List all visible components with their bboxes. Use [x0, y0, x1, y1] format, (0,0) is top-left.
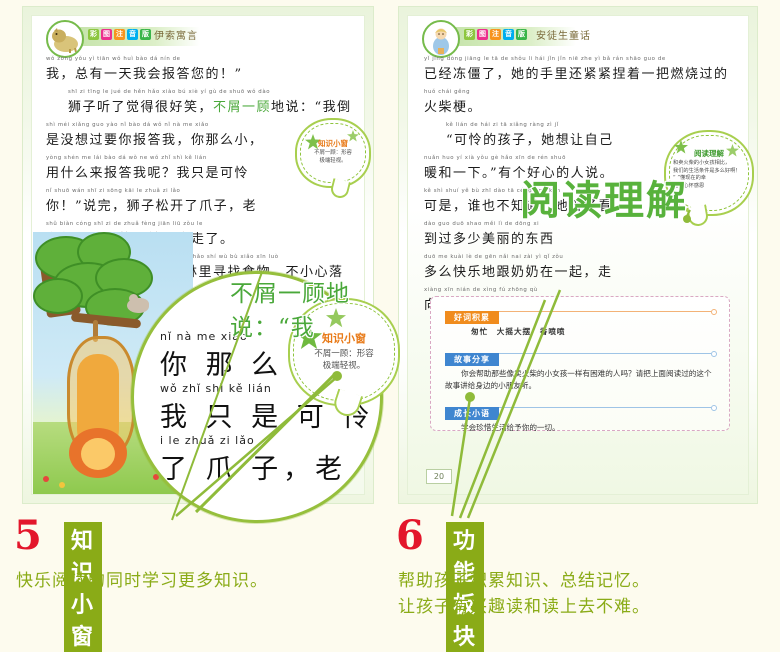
hanzi-row: 已经冻僵了，她的手里还紧紧捏着一把燃烧过的 [424, 63, 729, 82]
pinyin-row: shǔ biàn cóng shī zi de zhuǎ fèng jiān l… [46, 221, 203, 227]
callout-small-body: 不屑一顾：形容 极端轻视。 [297, 150, 369, 166]
hanzi-row: 到过多少美丽的东西 [424, 228, 555, 247]
hanzi-row: 我，总有一天我会报答您的！” [46, 63, 243, 82]
badge-0: 彩 [88, 29, 99, 40]
lion-icon [46, 20, 84, 58]
text-line: duō me kuài lè de gēn nǎi nai zài yì qǐ … [424, 254, 749, 282]
section-tag: 故事分享 [445, 353, 499, 366]
section-body: 匆忙 大摇大摆 香喷喷 [445, 326, 717, 338]
section-tag: 成长小语 [445, 407, 499, 420]
left-overlay-phrase: 不屑一顾地说：“我 [230, 274, 364, 342]
callout-small-title: 知识小窗 [297, 138, 369, 149]
badge-1: 图 [477, 29, 488, 40]
caption-line-6-1: 让孩子有兴趣读和读上去不难。 [398, 592, 650, 617]
caption-line-5-0: 快乐阅读的同时学习更多知识。 [16, 566, 268, 591]
section-rule [499, 311, 711, 312]
magnified-hanzi: 了 爪 子，老 [160, 447, 347, 486]
section-body: 学会珍惜生活给予你的一切。 [445, 422, 717, 434]
badge-2: 注 [114, 29, 125, 40]
magnified-pinyin: le [160, 486, 172, 499]
book-spread: 彩 图 注 音 版 伊索寓言 wǒ zǒng yǒu yì tiān wǒ hu… [0, 0, 780, 512]
hanzi-row: 是没想过要你报答我，你那么小， [46, 129, 264, 148]
section-dot [711, 309, 717, 315]
hanzi-row: 火柴梗。 [424, 96, 482, 115]
badge-4: 版 [516, 29, 527, 40]
pinyin-row: yǐ jīng dòng jiāng le tā de shǒu li hái … [424, 56, 666, 62]
exercise-panel: 好词积累匆忙 大摇大摆 香喷喷故事分享你会帮助那些像卖火柴的小女孩一样有困难的人… [430, 296, 730, 431]
pinyin-row: nǐ shuō wán shī zi sōng kāi le zhuǎ zi l… [46, 188, 180, 194]
text-line: wǒ zǒng yǒu yì tiān wǒ huì bào dá nín de… [46, 56, 365, 84]
badge-3: 音 [503, 29, 514, 40]
right-page-title: 安徒生童话 [536, 27, 591, 42]
hanzi-row: 用什么来报答我呢？我只是可怜 [46, 162, 249, 181]
caption-number-5: 5 [14, 516, 42, 556]
callout-read-title: 阅读理解 [666, 148, 752, 159]
caption-number-6: 6 [396, 516, 424, 556]
right-page-header: 彩 图 注 音 版 安徒生童话 [408, 24, 748, 50]
hanzi-row: “可怜的孩子，她想让自己 [446, 129, 614, 148]
pinyin-row: xiàng xīn nián de xìng fú zhōng qù [424, 287, 538, 293]
pinyin-row: shī zi tīng le jué de hěn hǎo xiào bú xi… [68, 89, 270, 95]
pinyin-row: huǒ chái gěng [424, 89, 470, 95]
magnified-pinyin: wǒ zhǐ shì kě lián [160, 382, 272, 395]
hanzi-row: 狮子听了觉得很好笑，不屑一顾地说：“我倒 [68, 96, 352, 115]
pinyin-row: wǒ zǒng yǒu yì tiān wǒ huì bào dá nín de [46, 56, 181, 62]
panel-section-2: 成长小语学会珍惜生活给予你的一切。 [445, 401, 717, 434]
left-header-badges: 彩 图 注 音 版 [88, 29, 151, 40]
magnified-hanzi: 了 [160, 499, 192, 523]
caption-line-6-0: 帮助孩子积累知识、总结记忆。 [398, 566, 650, 591]
text-line: shī zi tīng le jué de hěn hǎo xiào bú xi… [46, 89, 365, 117]
text-line: huǒ chái gěng火柴梗。 [424, 89, 749, 117]
badge-3: 音 [127, 29, 138, 40]
hanzi-row: 多么快乐地跟奶奶在一起，走 [424, 261, 613, 280]
left-page-header: 彩 图 注 音 版 伊索寓言 [32, 24, 364, 50]
hanzi-row: 你！”说完，狮子松开了爪子，老 [46, 195, 257, 214]
right-overlay-phrase: 阅读理解 [520, 168, 688, 226]
callout-big-body: 不屑一顾：形容 极端轻视。 [290, 348, 398, 373]
pinyin-row: nuǎn huo yí xià yǒu gè hǎo xīn de rén sh… [424, 155, 566, 161]
left-page-title: 伊索寓言 [154, 27, 198, 42]
pinyin-row: shì méi xiǎng guo yào nǐ bào dá wǒ nǐ nà… [46, 122, 209, 128]
right-page-inner: 彩 图 注 音 版 安徒生童话 yǐ jīng dòng jiāng le tā… [407, 15, 749, 495]
section-rule [499, 353, 711, 354]
panel-section-0: 好词积累匆忙 大摇大摆 香喷喷 [445, 305, 717, 338]
text-line: yǐ jīng dòng jiāng le tā de shǒu li hái … [424, 56, 749, 84]
text-line: nǐ shuō wán shī zi sōng kāi le zhuǎ zi l… [46, 188, 365, 216]
page-number: 20 [426, 469, 452, 484]
pinyin-row: duō me kuài lè de gēn nǎi nai zài yì qǐ … [424, 254, 563, 260]
right-book-page: 彩 图 注 音 版 安徒生童话 yǐ jīng dòng jiāng le tā… [398, 6, 758, 504]
badge-1: 图 [101, 29, 112, 40]
badge-4: 版 [140, 29, 151, 40]
magnified-pinyin: i le zhuǎ zi lǎo [160, 434, 255, 447]
right-header-badges: 彩 图 注 音 版 [464, 29, 527, 40]
badge-2: 注 [490, 29, 501, 40]
section-dot [711, 351, 717, 357]
section-tag: 好词积累 [445, 311, 499, 324]
section-body: 你会帮助那些像卖火柴的小女孩一样有困难的人吗？请把上面阅读过的这个故事讲给身边的… [445, 368, 717, 392]
panel-section-1: 故事分享你会帮助那些像卖火柴的小女孩一样有困难的人吗？请把上面阅读过的这个故事讲… [445, 347, 717, 392]
girl-icon [422, 20, 460, 58]
badge-0: 彩 [464, 29, 475, 40]
callout-knowledge-window-small: 知识小窗 不屑一顾：形容 极端轻视。 [295, 118, 371, 188]
pinyin-row: kě lián de hái zi tā xiǎng ràng zì jǐ [446, 122, 559, 128]
pinyin-row: yòng shén me lái bào dá wǒ ne wǒ zhǐ shì… [46, 155, 207, 161]
section-rule [499, 407, 711, 408]
section-dot [711, 405, 717, 411]
